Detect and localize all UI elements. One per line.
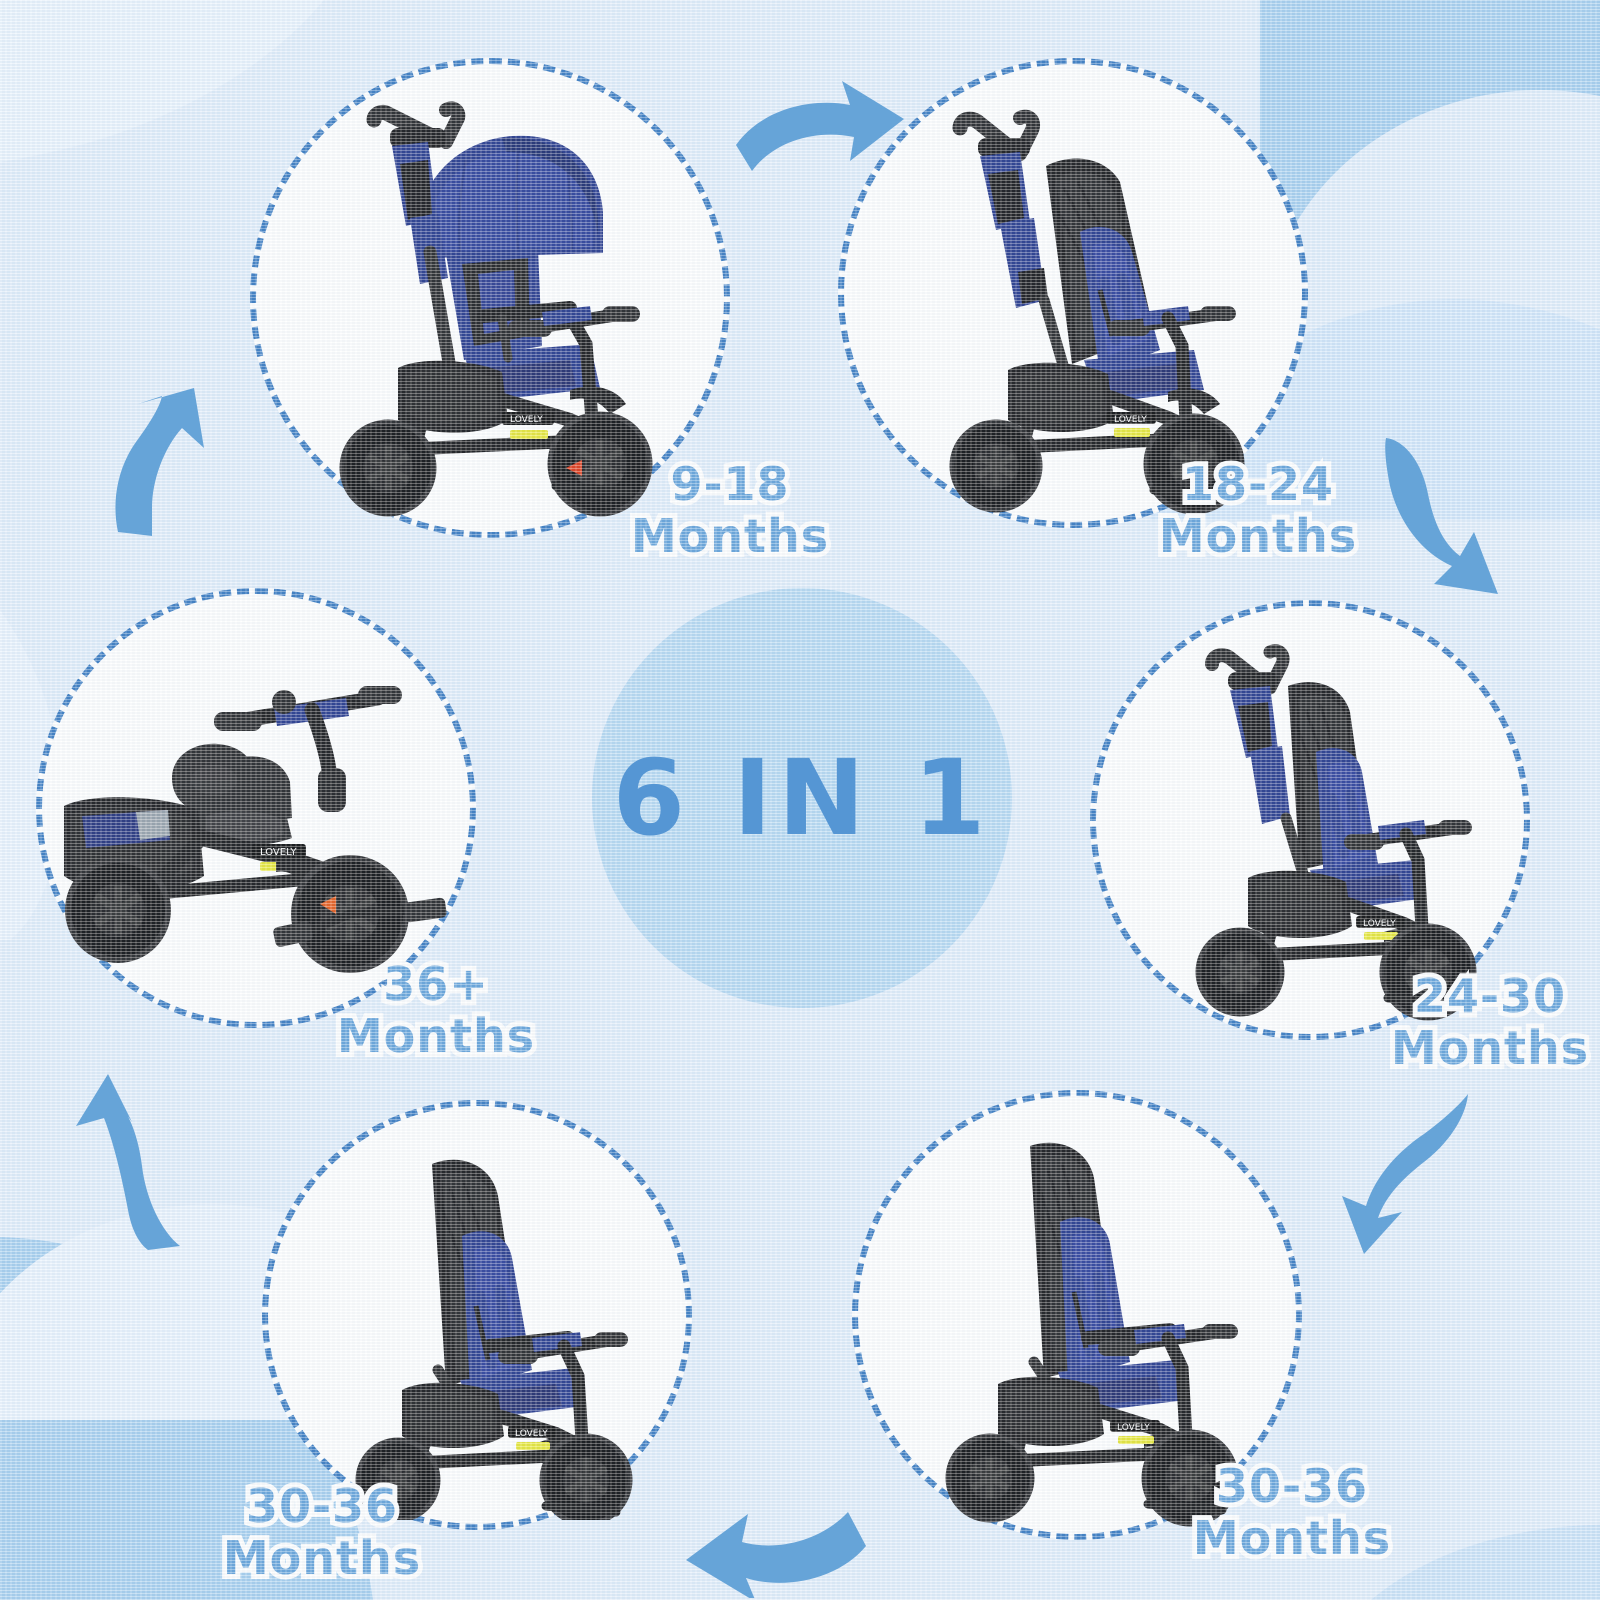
arrow-bottom-left: [672, 1468, 872, 1598]
stage-card-30-36-months-left[interactable]: LOVELY 30-36 Months: [262, 1100, 692, 1530]
stage-label: 24-30 Months: [1340, 970, 1600, 1074]
svg-text:LOVELY: LOVELY: [260, 847, 297, 858]
svg-text:LOVELY: LOVELY: [515, 1429, 548, 1439]
stage-card-24-30-months[interactable]: LOVELY 24-30 Months: [1090, 600, 1530, 1040]
infographic-canvas: 6 IN 1: [0, 0, 1600, 1600]
svg-text:LOVELY: LOVELY: [1117, 1423, 1150, 1433]
stage-card-36-plus-months[interactable]: LOVELY 36+ Months: [36, 588, 476, 1028]
stage-card-30-36-months-right[interactable]: LOVELY 30-36 Months: [852, 1090, 1302, 1540]
product-image-reclined-push: LOVELY: [868, 82, 1288, 522]
svg-text:LOVELY: LOVELY: [510, 415, 543, 425]
arrow-top-right: [730, 75, 910, 205]
product-image-no-handle-seat: LOVELY: [302, 1130, 672, 1520]
product-image-pedal-trike: LOVELY: [6, 628, 496, 988]
stage-card-9-18-months[interactable]: LOVELY 9-18 Months: [250, 58, 730, 538]
stage-label: 36+ Months: [286, 958, 586, 1062]
svg-text:LOVELY: LOVELY: [1363, 919, 1396, 929]
svg-text:LOVELY: LOVELY: [1114, 415, 1147, 425]
stage-label: 30-36 Months: [172, 1480, 472, 1584]
arrow-left-up-upper: [108, 386, 258, 536]
arrow-bottom-right-in: [1330, 1090, 1500, 1260]
arrow-left-up-lower: [70, 1070, 220, 1250]
arrow-right-down: [1356, 432, 1526, 602]
stage-label: 9-18 Months: [580, 458, 880, 562]
stage-label: 30-36 Months: [1142, 1460, 1442, 1564]
headline-6-in-1: 6 IN 1: [592, 588, 1012, 1008]
